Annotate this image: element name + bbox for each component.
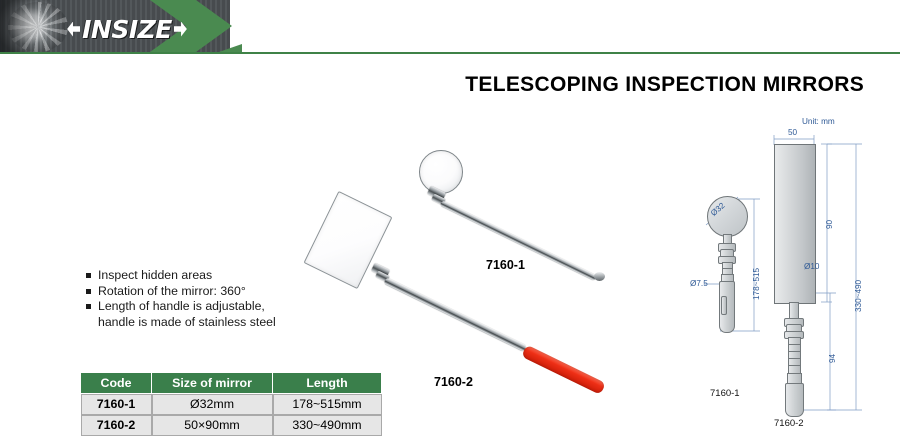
dim-rod-dia-2: Ø10 bbox=[804, 262, 819, 271]
drawing-handle bbox=[785, 383, 804, 417]
feature-item: Length of handle is adjustable, handle i… bbox=[86, 299, 326, 330]
arrow-left-icon bbox=[67, 22, 80, 37]
page-title: TELESCOPING INSPECTION MIRRORS bbox=[0, 73, 864, 97]
specification-table: Code Size of mirror Length 7160-1 Ø32mm … bbox=[80, 372, 382, 436]
header-accent-rule bbox=[0, 52, 900, 54]
cell-length: 330~490mm bbox=[273, 415, 382, 436]
cell-length: 178~515mm bbox=[273, 394, 382, 415]
column-header-code: Code bbox=[81, 373, 152, 394]
product-label-7160-1: 7160-1 bbox=[486, 258, 525, 272]
dim-mirror-width: 50 bbox=[788, 128, 797, 137]
cell-code: 7160-2 bbox=[81, 415, 152, 436]
dim-rod-dia-1: Ø7.5 bbox=[690, 279, 708, 288]
feature-item: Rotation of the mirror: 360° bbox=[86, 284, 326, 300]
cell-size: Ø32mm bbox=[152, 394, 273, 415]
dim-mirror-height: 90 bbox=[825, 220, 834, 229]
column-header-length: Length bbox=[273, 373, 382, 394]
feature-item: Inspect hidden areas bbox=[86, 268, 326, 284]
brand-name: INSIZE bbox=[82, 17, 172, 42]
dim-handle-length: 94 bbox=[828, 354, 837, 363]
page-header: INSIZE bbox=[0, 0, 900, 55]
dim-total-length-1: 178~515 bbox=[752, 268, 761, 300]
drawing-handle-clip bbox=[721, 296, 727, 315]
feature-list: Inspect hidden areas Rotation of the mir… bbox=[86, 268, 326, 330]
arrow-right-icon bbox=[174, 22, 187, 37]
column-header-size: Size of mirror bbox=[152, 373, 273, 394]
brand-logo: INSIZE bbox=[52, 16, 202, 42]
cell-size: 50×90mm bbox=[152, 415, 273, 436]
drawing-rect-mirror bbox=[774, 144, 816, 304]
drawing-label-7160-1: 7160-1 bbox=[710, 388, 740, 399]
drawing-label-7160-2: 7160-2 bbox=[774, 418, 804, 429]
dim-total-length-2: 330~490 bbox=[854, 280, 863, 312]
technical-drawings: Unit: mm bbox=[690, 115, 900, 441]
table-row: 7160-2 50×90mm 330~490mm bbox=[81, 415, 382, 436]
product-label-7160-2: 7160-2 bbox=[434, 375, 473, 389]
table-row: 7160-1 Ø32mm 178~515mm bbox=[81, 394, 382, 415]
red-handle-grip bbox=[521, 345, 606, 395]
round-mirror-head bbox=[419, 150, 463, 194]
rod-end-cap bbox=[594, 272, 605, 281]
header-photo-vignette bbox=[0, 0, 40, 52]
table-header-row: Code Size of mirror Length bbox=[81, 373, 382, 394]
telescoping-rod bbox=[383, 277, 526, 352]
cell-code: 7160-1 bbox=[81, 394, 152, 415]
